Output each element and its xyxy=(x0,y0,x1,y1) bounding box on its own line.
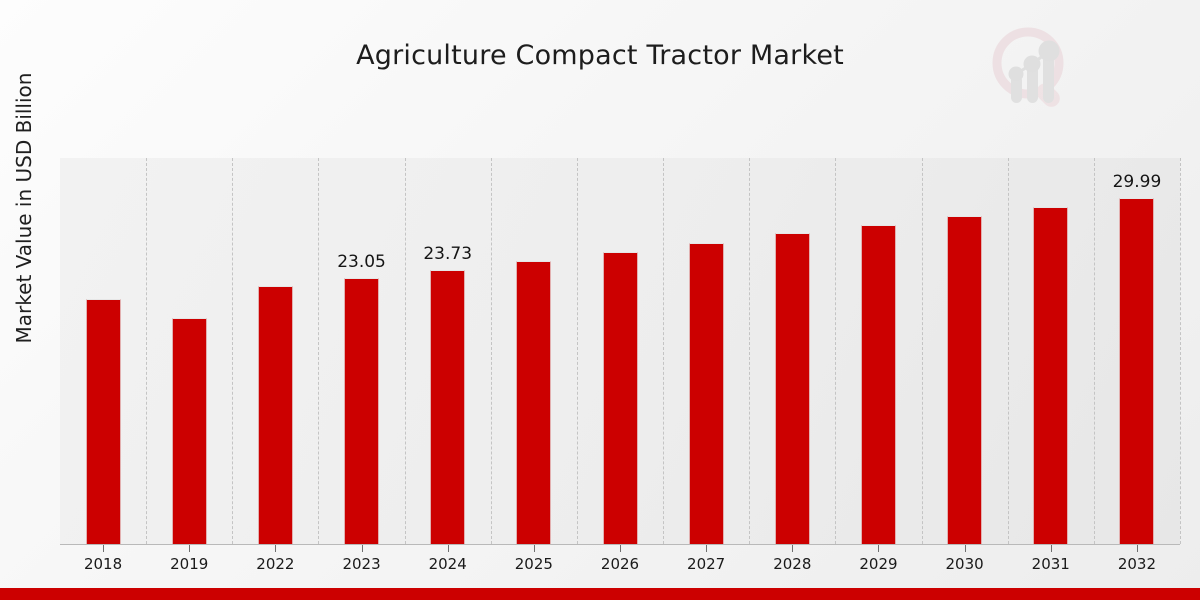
bar-2023[interactable] xyxy=(344,278,379,544)
x-tick-label-2031: 2031 xyxy=(1032,555,1070,573)
bar-group[interactable]: 23.05 xyxy=(344,158,379,544)
x-tick-label-2030: 2030 xyxy=(946,555,984,573)
plot-area: 23.0523.7329.99 xyxy=(60,158,1180,545)
x-tick-mark xyxy=(965,545,966,552)
brand-logo-watermark xyxy=(985,22,1081,118)
chart-container: Agriculture Compact Tractor Market Marke… xyxy=(0,0,1200,600)
bar-2030[interactable] xyxy=(947,216,982,544)
bar-group[interactable] xyxy=(172,158,207,544)
x-tick-mark xyxy=(189,545,190,552)
bar-2032[interactable] xyxy=(1119,198,1154,544)
x-tick-mark xyxy=(1051,545,1052,552)
footer-accent-band xyxy=(0,588,1200,600)
bar-group[interactable] xyxy=(689,158,724,544)
bar-group[interactable] xyxy=(603,158,638,544)
bar-value-label-2024: 23.73 xyxy=(423,244,472,264)
bar-2018[interactable] xyxy=(86,299,121,544)
bar-2028[interactable] xyxy=(775,233,810,544)
gridline xyxy=(1180,158,1181,544)
bar-group[interactable] xyxy=(947,158,982,544)
x-tick-label-2018: 2018 xyxy=(84,555,122,573)
x-tick-mark xyxy=(792,545,793,552)
bar-group[interactable] xyxy=(1033,158,1068,544)
x-tick-mark xyxy=(620,545,621,552)
x-tick-label-2022: 2022 xyxy=(256,555,294,573)
x-tick-mark xyxy=(1137,545,1138,552)
x-tick-mark xyxy=(275,545,276,552)
x-tick-label-2024: 2024 xyxy=(429,555,467,573)
x-tick-label-2028: 2028 xyxy=(773,555,811,573)
bar-value-label-2023: 23.05 xyxy=(337,252,386,272)
bar-2019[interactable] xyxy=(172,318,207,544)
x-axis: 2018201920222023202420252026202720282029… xyxy=(60,545,1180,575)
bar-group[interactable] xyxy=(861,158,896,544)
bar-2029[interactable] xyxy=(861,225,896,544)
bar-group[interactable] xyxy=(258,158,293,544)
x-tick-mark xyxy=(534,545,535,552)
bar-2026[interactable] xyxy=(603,252,638,544)
x-tick-mark xyxy=(878,545,879,552)
x-tick-label-2032: 2032 xyxy=(1118,555,1156,573)
bar-2024[interactable] xyxy=(430,270,465,544)
bar-group[interactable]: 23.73 xyxy=(430,158,465,544)
x-tick-label-2027: 2027 xyxy=(687,555,725,573)
bar-2027[interactable] xyxy=(689,243,724,545)
bar-group[interactable] xyxy=(775,158,810,544)
x-tick-label-2023: 2023 xyxy=(342,555,380,573)
x-tick-mark xyxy=(706,545,707,552)
bar-2022[interactable] xyxy=(258,286,293,544)
bar-group[interactable]: 29.99 xyxy=(1119,158,1154,544)
y-axis-title: Market Value in USD Billion xyxy=(12,0,36,418)
x-tick-mark xyxy=(448,545,449,552)
x-tick-label-2019: 2019 xyxy=(170,555,208,573)
bar-2025[interactable] xyxy=(516,261,551,544)
bar-group[interactable] xyxy=(86,158,121,544)
x-tick-label-2025: 2025 xyxy=(515,555,553,573)
bar-2031[interactable] xyxy=(1033,207,1068,544)
bar-group[interactable] xyxy=(516,158,551,544)
x-tick-mark xyxy=(362,545,363,552)
x-tick-label-2026: 2026 xyxy=(601,555,639,573)
x-tick-label-2029: 2029 xyxy=(859,555,897,573)
bars-layer: 23.0523.7329.99 xyxy=(60,158,1180,544)
x-tick-mark xyxy=(103,545,104,552)
bar-value-label-2032: 29.99 xyxy=(1113,172,1162,192)
